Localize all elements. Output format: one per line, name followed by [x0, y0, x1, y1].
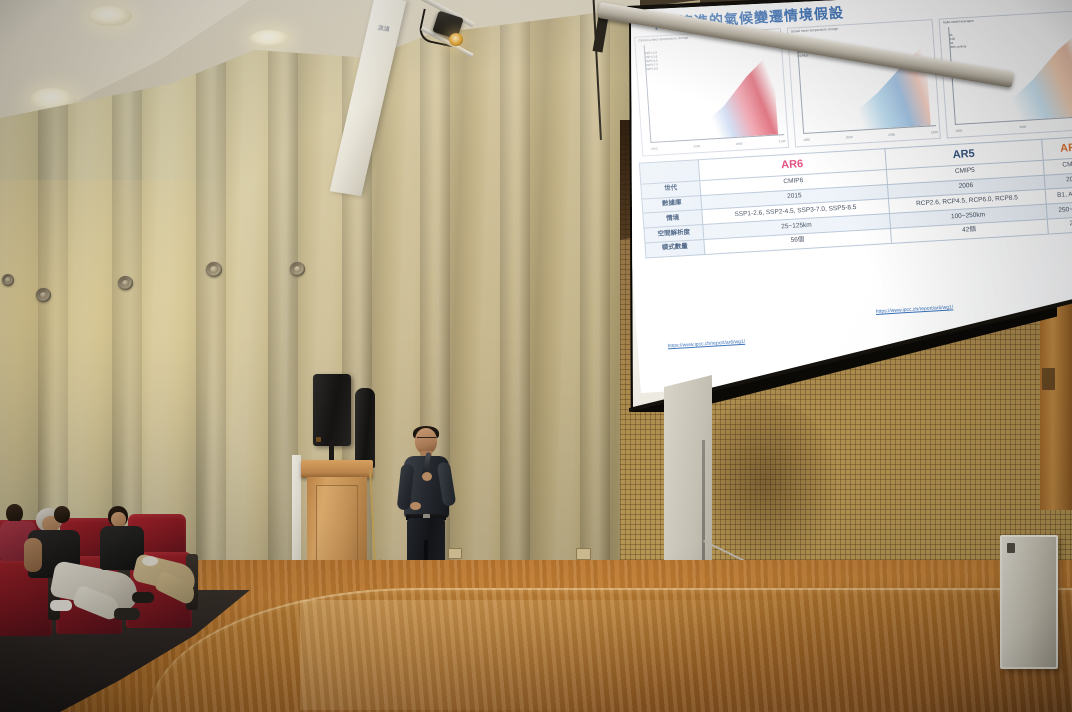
chart-ar6: Global surface temperature change SSP1-1… — [634, 28, 789, 156]
table-col-ar4: AR4 — [1041, 136, 1072, 160]
wall-socket — [576, 548, 591, 560]
chart-ar6-plot — [645, 50, 778, 142]
wall-acoustic-disc — [206, 262, 222, 277]
row-label: 模式數量 — [645, 239, 705, 257]
cell: CMIP3 — [1043, 157, 1072, 175]
recessed-ceiling-light — [88, 6, 132, 26]
audience-shoe — [50, 600, 72, 611]
x-tick: 1950 — [651, 147, 658, 151]
x-tick: 2000 — [693, 144, 700, 148]
audience-member — [52, 506, 86, 546]
x-tick: 2100 — [931, 130, 938, 134]
cell: 24個 — [1047, 216, 1072, 234]
x-tick: 2050 — [888, 133, 895, 137]
x-tick: 1950 — [803, 138, 810, 142]
projection-screen: 不斷演進的氣候變遷情境假設 Global surface temperature… — [597, 0, 1072, 437]
cell: B1, A1B, A2 — [1045, 186, 1072, 204]
audience-member — [100, 506, 210, 618]
recessed-ceiling-light — [250, 30, 290, 47]
audience-face — [111, 512, 126, 527]
chart-ar4-legend: B1 A1B A2 20th century — [949, 32, 967, 49]
floor-speaker-cabinet — [1000, 535, 1058, 669]
audience-head — [54, 506, 70, 523]
audience-arm — [24, 538, 42, 572]
presenter-hand-holding-mic — [422, 472, 432, 481]
chart-ar6-title: Global surface temperature change — [638, 36, 688, 43]
spotlight-lens — [449, 33, 463, 46]
legend-entry: SSP5-8.5 — [645, 66, 658, 71]
pa-speaker-icon — [313, 374, 351, 446]
wall-acoustic-disc — [290, 262, 305, 276]
banner-label: 演講 — [369, 22, 397, 38]
glasses-icon — [417, 437, 436, 443]
presenter-hand — [410, 502, 421, 510]
stage-floor-front — [150, 588, 1072, 712]
x-tick: 2100 — [779, 139, 786, 143]
pa-column-speaker — [355, 388, 375, 468]
legend-entry: 20th century — [950, 44, 967, 49]
wall-acoustic-disc — [36, 288, 51, 302]
wall-acoustic-disc — [118, 276, 133, 290]
chart-ar5-title: Global mean temperature change — [791, 27, 839, 34]
legend-entry: RCP8.5 — [797, 54, 808, 59]
x-tick: 2050 — [736, 142, 743, 146]
audience-held-item — [142, 556, 158, 566]
audience-shoe — [132, 592, 154, 603]
x-tick: 2000 — [1019, 125, 1026, 129]
cell: 250~350km — [1046, 201, 1072, 219]
x-tick: 2000 — [846, 135, 853, 139]
x-tick: 1900 — [956, 129, 963, 133]
slide-source-link-secondary[interactable]: https://www.ipcc.ch/report/ar6/wg1/ — [876, 304, 954, 315]
podium-top — [301, 460, 373, 478]
lecture-hall-photo: 演講 不斷演進的氣候變遷情境假設 Global surface temperat… — [0, 0, 1072, 712]
cell: 2001 — [1044, 171, 1072, 189]
chart-ar4-title: Multi-model averages — [943, 19, 974, 25]
slide-comparison-table: AR6 AR5 AR4 世代 CMIP6 CMIP5 CMIP3 數據庫 201… — [639, 135, 1072, 258]
wall-acoustic-disc — [2, 274, 14, 286]
